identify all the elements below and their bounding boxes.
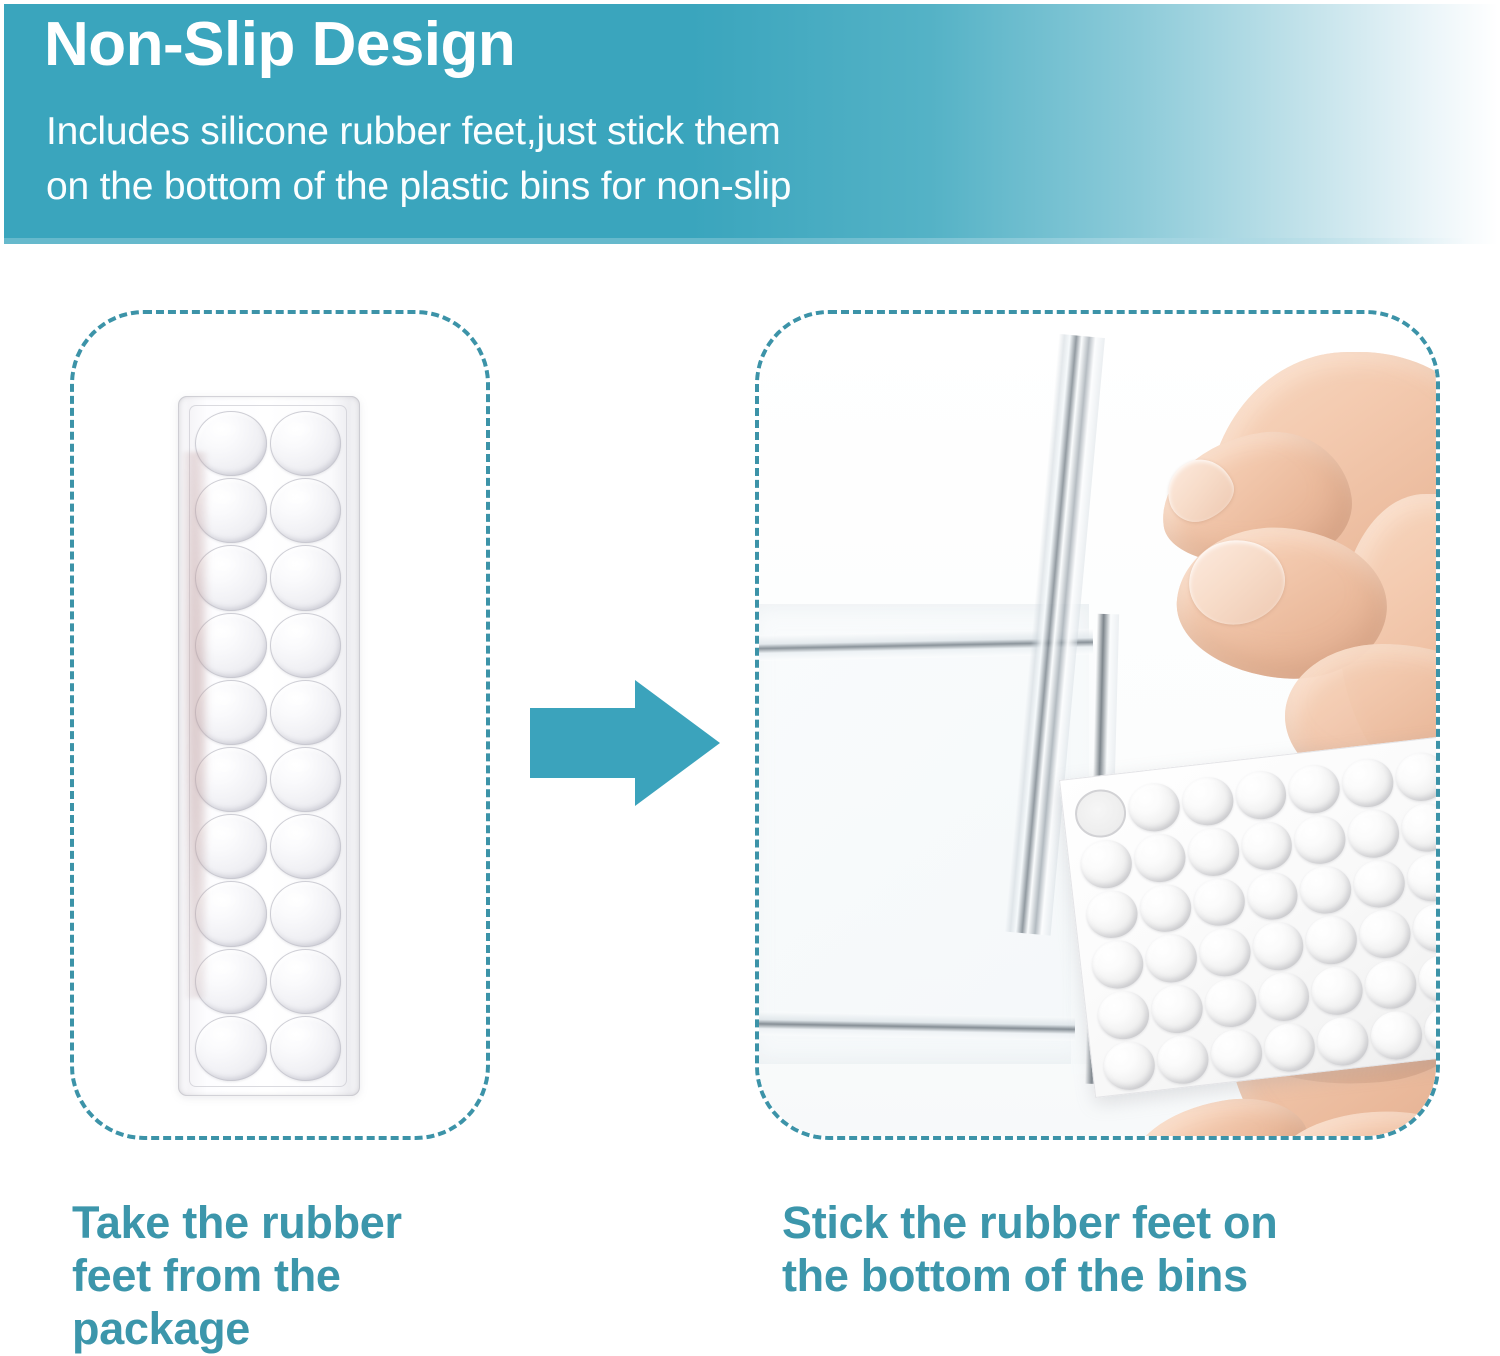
white-rubber-feet-sheet bbox=[1059, 736, 1436, 1098]
rubber-foot bbox=[270, 1016, 342, 1081]
rubber-foot bbox=[1298, 863, 1354, 916]
rubber-foot bbox=[1411, 902, 1436, 955]
rubber-foot bbox=[195, 949, 267, 1014]
rubber-foot bbox=[1352, 857, 1408, 910]
right-panel-body bbox=[759, 314, 1436, 1136]
header-subtitle: Includes silicone rubber feet,just stick… bbox=[46, 104, 791, 215]
rubber-foot bbox=[270, 747, 342, 812]
rubber-foot bbox=[1185, 825, 1241, 878]
rubber-foot bbox=[1233, 769, 1289, 822]
rubber-foot bbox=[1239, 819, 1295, 872]
rubber-foot bbox=[1340, 756, 1396, 809]
arrow-right-icon bbox=[530, 668, 720, 818]
rubber-foot bbox=[1346, 807, 1402, 860]
rubber-foot bbox=[1208, 1027, 1264, 1080]
header-banner: Non-Slip Design Includes silicone rubber… bbox=[4, 4, 1498, 244]
rubber-foot bbox=[1394, 750, 1436, 803]
rubber-foot bbox=[1310, 964, 1366, 1017]
stick-rubber-feet-panel bbox=[755, 310, 1440, 1140]
rubber-foot bbox=[1250, 920, 1306, 973]
left-panel-body bbox=[74, 314, 486, 1136]
rubber-foot bbox=[195, 545, 267, 610]
rubber-foot bbox=[1096, 989, 1152, 1042]
rubber-foot bbox=[1132, 831, 1188, 884]
process-arrow bbox=[530, 668, 720, 818]
left-panel-caption: Take the rubber feet from the package bbox=[72, 1196, 502, 1355]
rubber-foot bbox=[270, 881, 342, 946]
rubber-foot bbox=[1090, 938, 1146, 991]
rubber-foot bbox=[1287, 762, 1343, 815]
rubber-foot bbox=[1399, 801, 1436, 854]
rubber-foot bbox=[270, 814, 342, 879]
white-feet-grid bbox=[1073, 750, 1436, 1092]
rubber-foot bbox=[1405, 851, 1436, 904]
rubber-foot bbox=[270, 949, 342, 1014]
bin-and-hands-scene bbox=[759, 314, 1436, 1136]
rubber-foot bbox=[1197, 926, 1253, 979]
rubber-foot bbox=[1369, 1009, 1425, 1062]
right-panel-caption: Stick the rubber feet on the bottom of t… bbox=[782, 1196, 1442, 1302]
rubber-foot bbox=[1126, 781, 1182, 834]
rubber-foot bbox=[1357, 908, 1413, 961]
rubber-foot bbox=[1256, 971, 1312, 1024]
page-title: Non-Slip Design bbox=[44, 12, 515, 77]
rubber-foot bbox=[270, 411, 342, 476]
rubber-foot bbox=[1143, 932, 1199, 985]
rubber-foot bbox=[1191, 876, 1247, 929]
rubber-foot bbox=[1149, 983, 1205, 1036]
rubber-foot bbox=[1363, 958, 1419, 1011]
rubber-foot bbox=[1422, 1003, 1436, 1056]
rubber-foot bbox=[1155, 1033, 1211, 1086]
rubber-foot bbox=[195, 881, 267, 946]
rubber-foot bbox=[1084, 888, 1140, 941]
rubber-foot bbox=[1203, 977, 1259, 1030]
rubber-foot bbox=[1304, 914, 1360, 967]
rubber-foot bbox=[195, 747, 267, 812]
take-rubber-feet-panel bbox=[70, 310, 490, 1140]
rubber-foot bbox=[270, 478, 342, 543]
rubber-foot bbox=[195, 680, 267, 745]
rubber-foot bbox=[1262, 1021, 1318, 1074]
hand-applying-foot bbox=[1089, 344, 1436, 764]
rubber-foot bbox=[1417, 952, 1436, 1005]
rubber-foot bbox=[195, 1016, 267, 1081]
rubber-foot bbox=[270, 680, 342, 745]
rubber-foot bbox=[1180, 775, 1236, 828]
clear-feet-grid bbox=[195, 411, 341, 1081]
rubber-foot bbox=[1245, 870, 1301, 923]
rubber-foot bbox=[270, 613, 342, 678]
rubber-foot bbox=[1292, 813, 1348, 866]
rubber-foot-removed bbox=[1073, 787, 1129, 840]
rubber-foot bbox=[195, 814, 267, 879]
rubber-foot bbox=[1078, 837, 1134, 890]
rubber-foot bbox=[195, 478, 267, 543]
rubber-foot bbox=[1138, 882, 1194, 935]
rubber-foot bbox=[195, 411, 267, 476]
rubber-foot bbox=[1315, 1015, 1371, 1068]
rubber-foot bbox=[195, 613, 267, 678]
rubber-foot bbox=[1101, 1039, 1157, 1092]
silicone-rubber-feet-blister-strip bbox=[178, 396, 360, 1096]
rubber-foot bbox=[270, 545, 342, 610]
